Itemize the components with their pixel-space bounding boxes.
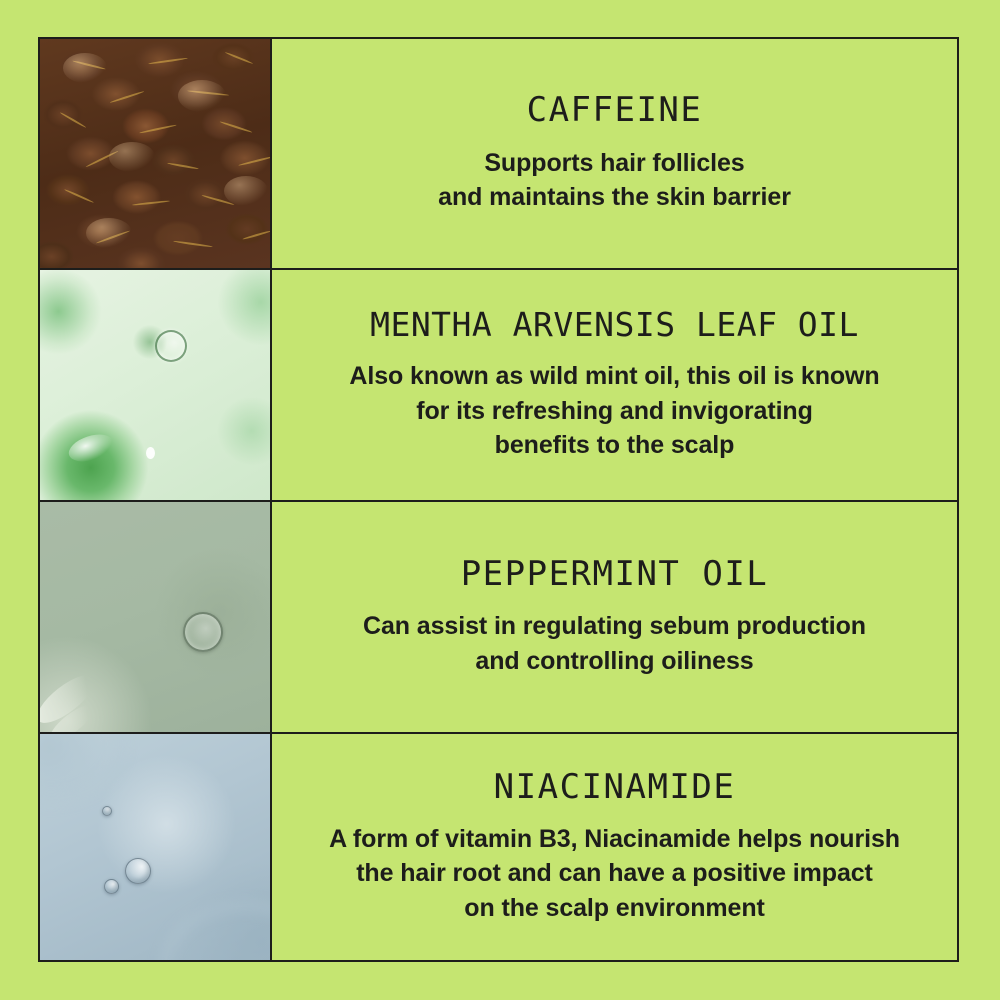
ingredient-image-cell-mentha-arvensis-leaf-oil: [40, 270, 272, 500]
table-row: NIACINAMIDE A form of vitamin B3, Niacin…: [40, 734, 957, 960]
ingredient-image-cell-caffeine: [40, 39, 272, 268]
ingredient-title: CAFFEINE: [527, 92, 703, 129]
bubble-icon: [183, 612, 223, 652]
bubble-icon: [104, 879, 119, 894]
ingredient-text-cell-mentha-arvensis-leaf-oil: MENTHA ARVENSIS LEAF OIL Also known as w…: [272, 270, 957, 500]
ingredient-text-cell-peppermint-oil: PEPPERMINT OIL Can assist in regulating …: [272, 502, 957, 732]
bubble-icon: [125, 858, 151, 884]
ingredient-title: PEPPERMINT OIL: [461, 556, 769, 593]
table-row: PEPPERMINT OIL Can assist in regulating …: [40, 502, 957, 734]
green-oil-droplets-photo: [40, 270, 270, 500]
table-row: CAFFEINE Supports hair folliclesand main…: [40, 39, 957, 270]
bubble-icon: [102, 806, 112, 816]
ingredient-title: NIACINAMIDE: [494, 769, 736, 806]
coffee-beans-photo: [40, 39, 270, 268]
table-row: MENTHA ARVENSIS LEAF OIL Also known as w…: [40, 270, 957, 502]
ingredient-description: Can assist in regulating sebum productio…: [363, 609, 866, 678]
ingredient-description: Also known as wild mint oil, this oil is…: [349, 359, 879, 463]
ingredient-text-cell-caffeine: CAFFEINE Supports hair folliclesand main…: [272, 39, 957, 268]
sage-liquid-bubble-photo: [40, 502, 270, 732]
ingredient-description: Supports hair folliclesand maintains the…: [438, 146, 791, 215]
ingredient-table: CAFFEINE Supports hair folliclesand main…: [38, 37, 959, 962]
blue-liquid-bubbles-photo: [40, 734, 270, 960]
ingredient-title: MENTHA ARVENSIS LEAF OIL: [370, 307, 859, 343]
ingredient-description: A form of vitamin B3, Niacinamide helps …: [329, 822, 900, 926]
ingredient-image-cell-niacinamide: [40, 734, 272, 960]
ingredient-text-cell-niacinamide: NIACINAMIDE A form of vitamin B3, Niacin…: [272, 734, 957, 960]
ingredient-image-cell-peppermint-oil: [40, 502, 272, 732]
bubble-icon: [155, 330, 187, 362]
